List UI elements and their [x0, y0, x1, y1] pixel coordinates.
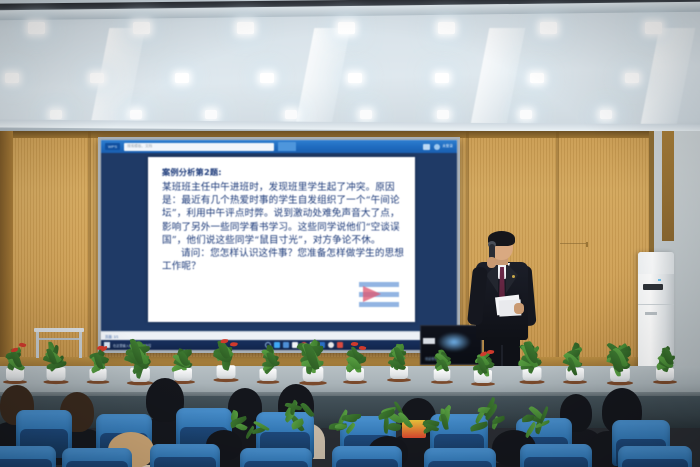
ceiling-lamp — [625, 73, 639, 83]
ac-top-vent — [638, 252, 674, 274]
potted-plant — [257, 340, 280, 382]
slide-paragraph-2: 请问：您怎样认识这件事？您准备怎样做学生的思想工作呢？ — [162, 247, 404, 273]
chair-seat-cushion — [336, 459, 398, 467]
foreground-plant — [432, 408, 433, 409]
search-placeholder-text: 搜索模板、文档 — [127, 144, 152, 149]
chair-seat-cushion — [622, 459, 688, 467]
chair-seat-cushion — [0, 459, 52, 467]
ac-seam — [638, 304, 674, 305]
potted-plant — [652, 336, 678, 382]
light-cove — [471, 28, 526, 124]
wall-hook — [586, 242, 588, 247]
ceiling-lamp — [205, 110, 217, 119]
potted-plant — [342, 336, 368, 382]
presentation-slide: 案例分析第2题: 某班班主任中午进班时，发现班里学生起了冲突。原因是：最近有几个… — [148, 157, 415, 322]
slide-body: 某班班主任中午进班时，发现班里学生起了冲突。原因是：最近有几个热爱时事的学生自发… — [162, 181, 404, 273]
potted-plant — [470, 338, 496, 384]
app-logo-badge: WPS — [105, 143, 120, 150]
interactive-whiteboard[interactable]: WPS 搜索模板、文档 未登录 案例分析第2题: 某班班主任中午进班时， — [98, 137, 460, 353]
chair-seat-cushion — [524, 457, 588, 467]
grid-icon[interactable] — [423, 144, 430, 150]
potted-plant — [386, 334, 412, 380]
chair-seat-cushion — [154, 457, 216, 467]
foreground-plant — [240, 412, 241, 413]
wall-wire — [560, 243, 588, 244]
wall-left-post — [0, 131, 13, 371]
chair-seat-cushion — [428, 461, 492, 467]
ceiling-lamp — [175, 73, 189, 83]
ceiling-lamp — [338, 22, 355, 34]
ceiling-lamp — [600, 110, 612, 119]
plant-flower — [101, 346, 109, 352]
potted-plant — [605, 327, 636, 383]
potted-plant — [296, 322, 330, 383]
user-label: 未登录 — [442, 144, 453, 149]
ceiling-lamp — [530, 73, 544, 83]
table-leg — [36, 332, 39, 358]
status-text: 页面: 1/1 — [105, 334, 118, 339]
ceiling-lamp — [237, 22, 254, 34]
wall-seam — [88, 131, 91, 371]
foreground-plant — [334, 410, 335, 411]
ceiling-lamp — [285, 110, 297, 119]
plant-flower — [220, 338, 228, 343]
ceiling-lamp — [645, 22, 662, 34]
table-leg — [79, 332, 82, 358]
speaker-lapel-pin-icon — [512, 275, 515, 278]
light-cove — [296, 28, 351, 124]
chair-seat-cushion — [244, 461, 308, 467]
foreground-plant — [386, 404, 387, 405]
slide-paragraph-1: 某班班主任中午进班时，发现班里学生起了冲突。原因是：最近有几个热爱时事的学生自发… — [162, 182, 400, 246]
potted-plant — [517, 332, 546, 383]
ceiling — [0, 0, 700, 140]
wall-corner-trim — [662, 131, 674, 241]
ceiling-lamp — [50, 110, 62, 119]
potted-plant — [87, 340, 110, 382]
ceiling-lamp — [130, 110, 142, 119]
ac-brand-logo — [645, 312, 657, 315]
ceiling-lamp — [133, 22, 150, 34]
potted-plant — [211, 330, 240, 381]
ceiling-lamp — [348, 73, 362, 83]
potted-plant — [170, 336, 196, 382]
speaker-hand-holding-papers — [514, 303, 524, 314]
potted-plant — [41, 332, 70, 383]
foreground-plant — [478, 404, 479, 405]
ceiling-lamp — [360, 110, 372, 119]
ceiling-lamp — [90, 73, 104, 83]
ceiling-lamp — [5, 73, 19, 83]
ceiling-lamp — [540, 22, 557, 34]
document-tab[interactable] — [278, 142, 296, 151]
app-title-bar: WPS 搜索模板、文档 未登录 — [101, 140, 457, 153]
ac-power-led-icon — [658, 279, 661, 281]
titlebar-right-group: 未登录 — [423, 144, 453, 150]
light-cove — [641, 28, 696, 124]
potted-plant — [431, 343, 453, 382]
avatar — [434, 144, 440, 150]
plant-flower — [359, 345, 367, 351]
potted-plant — [125, 327, 156, 383]
potted-plant — [2, 336, 28, 382]
ceiling-lamp — [520, 110, 532, 119]
ceiling-lamp — [260, 73, 274, 83]
slide-title: 案例分析第2题: — [162, 166, 404, 178]
app-search-box[interactable]: 搜索模板、文档 — [124, 143, 274, 151]
flag-graphic-icon — [359, 282, 399, 307]
ceiling-lamp — [438, 22, 455, 34]
ceiling-lamp — [437, 110, 449, 119]
user-account[interactable]: 未登录 — [434, 144, 453, 150]
speaker-hand-holding-mic — [487, 257, 496, 268]
edge-icon[interactable] — [283, 342, 289, 348]
ceiling-lamp — [435, 73, 449, 83]
wall-seam — [556, 131, 559, 371]
foreground-plant — [286, 404, 287, 405]
projection-screen[interactable]: WPS 搜索模板、文档 未登录 案例分析第2题: 某班班主任中午进班时， — [101, 140, 457, 350]
potted-plant — [562, 336, 588, 382]
chair-seat-cushion — [66, 461, 128, 467]
foreground-plant — [530, 410, 531, 411]
ceiling-lamp — [28, 22, 45, 34]
auditorium-photo: WPS 搜索模板、文档 未登录 案例分析第2题: 某班班主任中午进班时， — [0, 0, 700, 467]
ac-display-panel — [643, 284, 663, 290]
